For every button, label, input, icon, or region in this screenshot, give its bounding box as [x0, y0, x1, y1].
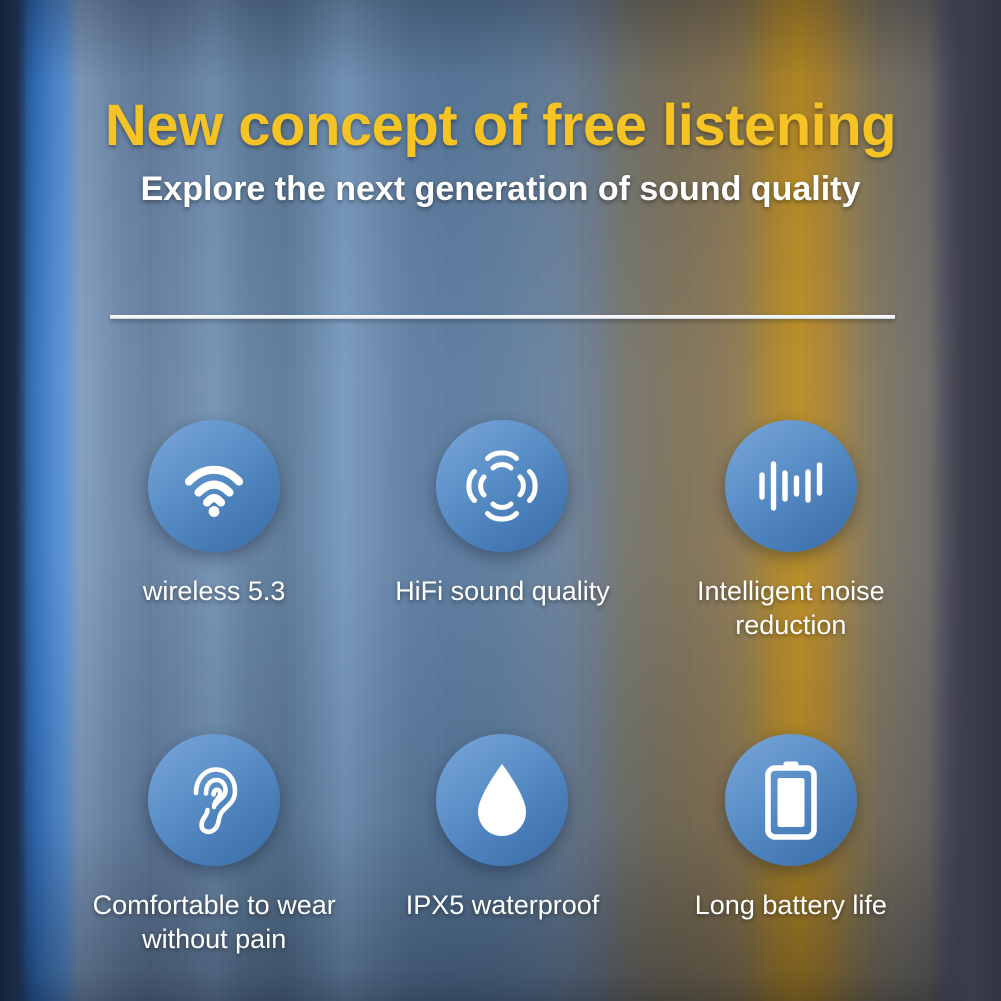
- feature-icon-badge: [436, 734, 568, 866]
- feature-item-waterproof: IPX5 waterproof: [358, 734, 646, 956]
- sound-waves-icon: [460, 444, 544, 528]
- feature-icon-badge: [148, 734, 280, 866]
- page-subtitle: Explore the next generation of sound qua…: [0, 170, 1001, 209]
- feature-icon-badge: [725, 420, 857, 552]
- page-title: New concept of free listening: [0, 92, 1001, 159]
- feature-label: Intelligent noise reduction: [661, 574, 921, 642]
- water-drop-icon: [469, 760, 535, 840]
- product-feature-poster: New concept of free listening Explore th…: [0, 0, 1001, 1001]
- feature-item-comfort: Comfortable to wear without pain: [70, 734, 358, 956]
- feature-label: Long battery life: [695, 888, 887, 922]
- ear-icon: [176, 762, 252, 838]
- feature-item-wireless: wireless 5.3: [70, 420, 358, 642]
- battery-icon: [760, 759, 822, 841]
- feature-label: Comfortable to wear without pain: [70, 888, 358, 956]
- feature-label: HiFi sound quality: [395, 574, 610, 608]
- feature-icon-badge: [725, 734, 857, 866]
- feature-grid: wireless 5.3: [70, 420, 935, 956]
- feature-item-battery: Long battery life: [647, 734, 935, 956]
- section-divider: [110, 315, 895, 319]
- feature-label: wireless 5.3: [143, 574, 286, 608]
- feature-item-noise-reduction: Intelligent noise reduction: [647, 420, 935, 642]
- poster-content: New concept of free listening Explore th…: [0, 0, 1001, 1001]
- feature-icon-badge: [148, 420, 280, 552]
- feature-label: IPX5 waterproof: [406, 888, 600, 922]
- feature-item-hifi: HiFi sound quality: [358, 420, 646, 642]
- wifi-icon: [175, 447, 253, 525]
- feature-icon-badge: [436, 420, 568, 552]
- audio-waveform-icon: [752, 447, 830, 525]
